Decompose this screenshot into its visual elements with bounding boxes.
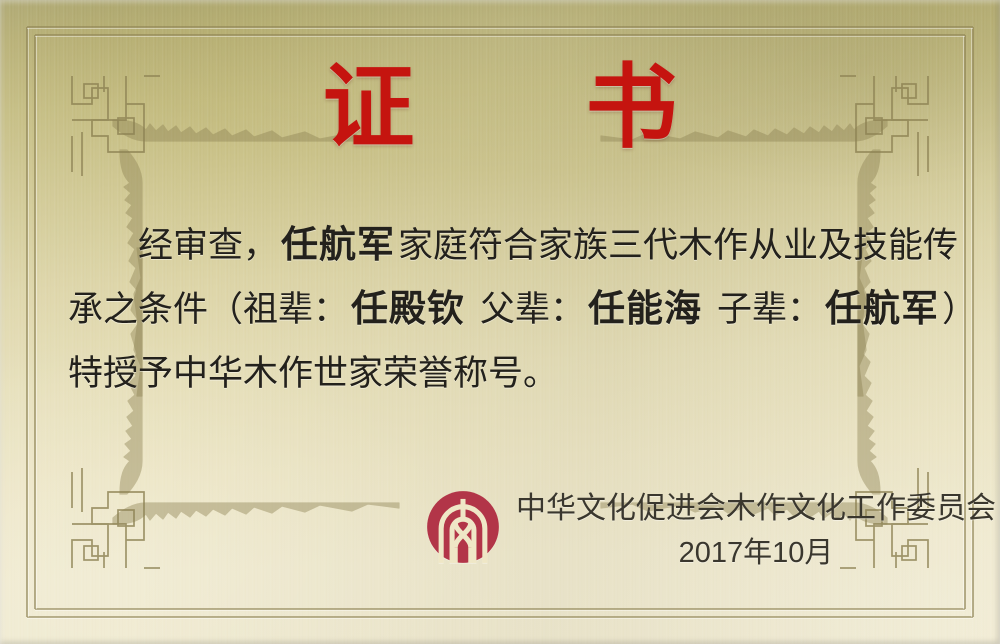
child-name: 任航军: [822, 289, 942, 330]
certificate-content: 证 书 经审查，任航军家庭符合家族三代木作从业及技能传 承之条件（祖辈：任殿钦父…: [0, 0, 1000, 644]
certificate-body: 经审查，任航军家庭符合家族三代木作从业及技能传 承之条件（祖辈：任殿钦父辈：任能…: [68, 214, 934, 406]
issue-date: 2017年10月: [516, 536, 996, 570]
body-line-1-suffix: 家庭符合家族三代木作从业及技能传: [398, 226, 958, 265]
grandparent-name: 任殿钦: [348, 289, 468, 330]
body-line-2-mid-1: 父辈：: [480, 290, 585, 329]
body-line-1-prefix: 经审查，: [138, 226, 278, 265]
body-line-2-suffix: ）: [942, 290, 977, 329]
body-line-2-prefix: 承之条件（祖辈：: [68, 290, 348, 329]
body-line-1: 经审查，任航军家庭符合家族三代木作从业及技能传: [68, 214, 934, 278]
issuer-text-block: 中华文化促进会木作文化工作委员会 2017年10月: [516, 484, 996, 570]
certificate-plaque: 证 书 经审查，任航军家庭符合家族三代木作从业及技能传 承之条件（祖辈：任殿钦父…: [0, 0, 1000, 644]
body-line-2-mid-2: 子辈：: [717, 290, 822, 329]
recipient-name: 任航军: [278, 225, 398, 266]
issuing-organization: 中华文化促进会木作文化工作委员会: [516, 490, 996, 528]
body-line-2: 承之条件（祖辈：任殿钦父辈：任能海子辈：任航军）: [68, 278, 934, 342]
parent-name: 任能海: [585, 289, 705, 330]
cpaff-circle-emblem-icon: [424, 488, 502, 566]
body-line-3: 特授予中华木作世家荣誉称号。: [68, 342, 934, 406]
issuer-block: 中华文化促进会木作文化工作委员会 2017年10月: [424, 484, 996, 570]
certificate-title: 证 书: [0, 62, 1000, 154]
